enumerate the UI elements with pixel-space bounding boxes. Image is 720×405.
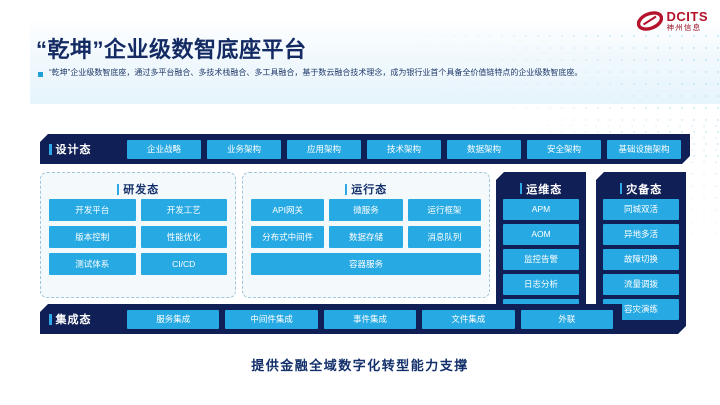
run-panel-label: 运行态 xyxy=(351,181,387,197)
logo-swoosh-icon xyxy=(637,10,663,32)
platform-architecture-diagram: 设计态 企业战略 业务架构 应用架构 技术架构 数据架构 安全架构 基础设施架构… xyxy=(40,134,690,334)
design-tile[interactable]: 安全架构 xyxy=(527,140,601,159)
subtitle-row: “乾坤”企业级数智底座，通过多平台融合、多技术栈融合、多工具融合，基于数云融合技… xyxy=(38,68,582,79)
accent-tick-icon xyxy=(49,144,52,155)
ops-column-stack: APM AOM 监控告警 日志分析 根因定位 xyxy=(503,199,579,320)
dr-column-title-group: 灾备态 xyxy=(603,178,679,199)
dcits-logo: DCITS 神州信息 xyxy=(637,10,709,32)
dev-tile[interactable]: CI/CD xyxy=(141,253,228,275)
logo-wordmark: DCITS 神州信息 xyxy=(667,10,709,32)
design-tile[interactable]: 应用架构 xyxy=(287,140,361,159)
ops-tile[interactable]: 日志分析 xyxy=(503,274,579,295)
run-tile[interactable]: 运行框架 xyxy=(408,199,481,221)
dev-tile[interactable]: 开发工艺 xyxy=(141,199,228,221)
dr-tile[interactable]: 故障切换 xyxy=(603,249,679,270)
footer-caption: 提供金融全域数字化转型能力支撑 xyxy=(0,355,720,374)
dr-column-stack: 同城双活 异地多活 故障切换 流量调拨 容灾演练 xyxy=(603,199,679,320)
dev-panel: 研发态 开发平台 开发工艺 版本控制 性能优化 测试体系 CI/CD xyxy=(40,172,236,298)
dr-column-label: 灾备态 xyxy=(626,181,662,197)
integration-row-label-group: 集成态 xyxy=(49,311,127,327)
integration-row-tiles: 服务集成 中间件集成 事件集成 文件集成 外联 xyxy=(127,310,613,329)
accent-tick-icon xyxy=(49,314,52,325)
accent-tick-icon xyxy=(620,183,623,194)
slide-canvas: DCITS 神州信息 “乾坤”企业级数智底座平台 “乾坤”企业级数智底座，通过多… xyxy=(0,0,720,405)
design-tile[interactable]: 基础设施架构 xyxy=(607,140,681,159)
run-panel: 运行态 API网关 微服务 运行框架 分布式中间件 数据存储 消息队列 容器服务 xyxy=(242,172,490,298)
bullet-square-icon xyxy=(38,72,43,77)
run-tile[interactable]: API网关 xyxy=(251,199,324,221)
integration-tile[interactable]: 外联 xyxy=(521,310,613,329)
ops-tile[interactable]: APM xyxy=(503,199,579,220)
ops-tile[interactable]: AOM xyxy=(503,224,579,245)
integration-tile[interactable]: 事件集成 xyxy=(324,310,416,329)
design-tile[interactable]: 业务架构 xyxy=(207,140,281,159)
dev-tile[interactable]: 性能优化 xyxy=(141,226,228,248)
dr-tile[interactable]: 流量调拨 xyxy=(603,274,679,295)
dr-tile[interactable]: 同城双活 xyxy=(603,199,679,220)
design-tile[interactable]: 数据架构 xyxy=(447,140,521,159)
integration-row-label: 集成态 xyxy=(56,311,92,327)
dev-panel-grid: 开发平台 开发工艺 版本控制 性能优化 测试体系 CI/CD xyxy=(49,199,227,275)
dr-tile[interactable]: 异地多活 xyxy=(603,224,679,245)
dev-tile[interactable]: 开发平台 xyxy=(49,199,136,221)
design-row: 设计态 企业战略 业务架构 应用架构 技术架构 数据架构 安全架构 基础设施架构 xyxy=(40,134,690,164)
run-tile[interactable]: 微服务 xyxy=(329,199,402,221)
dev-tile[interactable]: 测试体系 xyxy=(49,253,136,275)
integration-tile[interactable]: 服务集成 xyxy=(127,310,219,329)
run-panel-grid: API网关 微服务 运行框架 分布式中间件 数据存储 消息队列 容器服务 xyxy=(251,199,481,275)
run-tile[interactable]: 消息队列 xyxy=(408,226,481,248)
accent-tick-icon xyxy=(117,184,120,195)
run-panel-title-group: 运行态 xyxy=(251,179,481,199)
ops-column-label: 运维态 xyxy=(526,181,562,197)
dev-tile[interactable]: 版本控制 xyxy=(49,226,136,248)
design-row-label: 设计态 xyxy=(56,141,92,157)
ops-tile[interactable]: 监控告警 xyxy=(503,249,579,270)
run-tile[interactable]: 分布式中间件 xyxy=(251,226,324,248)
design-tile[interactable]: 技术架构 xyxy=(367,140,441,159)
dev-panel-label: 研发态 xyxy=(123,181,159,197)
integration-row: 集成态 服务集成 中间件集成 事件集成 文件集成 外联 xyxy=(40,304,622,334)
accent-tick-icon xyxy=(520,183,523,194)
ops-column-title-group: 运维态 xyxy=(503,178,579,199)
integration-tile[interactable]: 文件集成 xyxy=(422,310,514,329)
dev-panel-title-group: 研发态 xyxy=(49,179,227,199)
run-tile[interactable]: 数据存储 xyxy=(329,226,402,248)
design-tile[interactable]: 企业战略 xyxy=(127,140,201,159)
design-row-tiles: 企业战略 业务架构 应用架构 技术架构 数据架构 安全架构 基础设施架构 xyxy=(127,140,681,159)
page-title: “乾坤”企业级数智底座平台 xyxy=(36,32,307,64)
design-row-label-group: 设计态 xyxy=(49,141,127,157)
accent-tick-icon xyxy=(345,184,348,195)
subtitle-text: “乾坤”企业级数智底座，通过多平台融合、多技术栈融合、多工具融合，基于数云融合技… xyxy=(49,68,582,79)
logo-sub-text: 神州信息 xyxy=(667,24,709,32)
run-tile-container-service[interactable]: 容器服务 xyxy=(251,253,481,275)
logo-main-text: DCITS xyxy=(667,10,709,23)
integration-tile[interactable]: 中间件集成 xyxy=(225,310,317,329)
